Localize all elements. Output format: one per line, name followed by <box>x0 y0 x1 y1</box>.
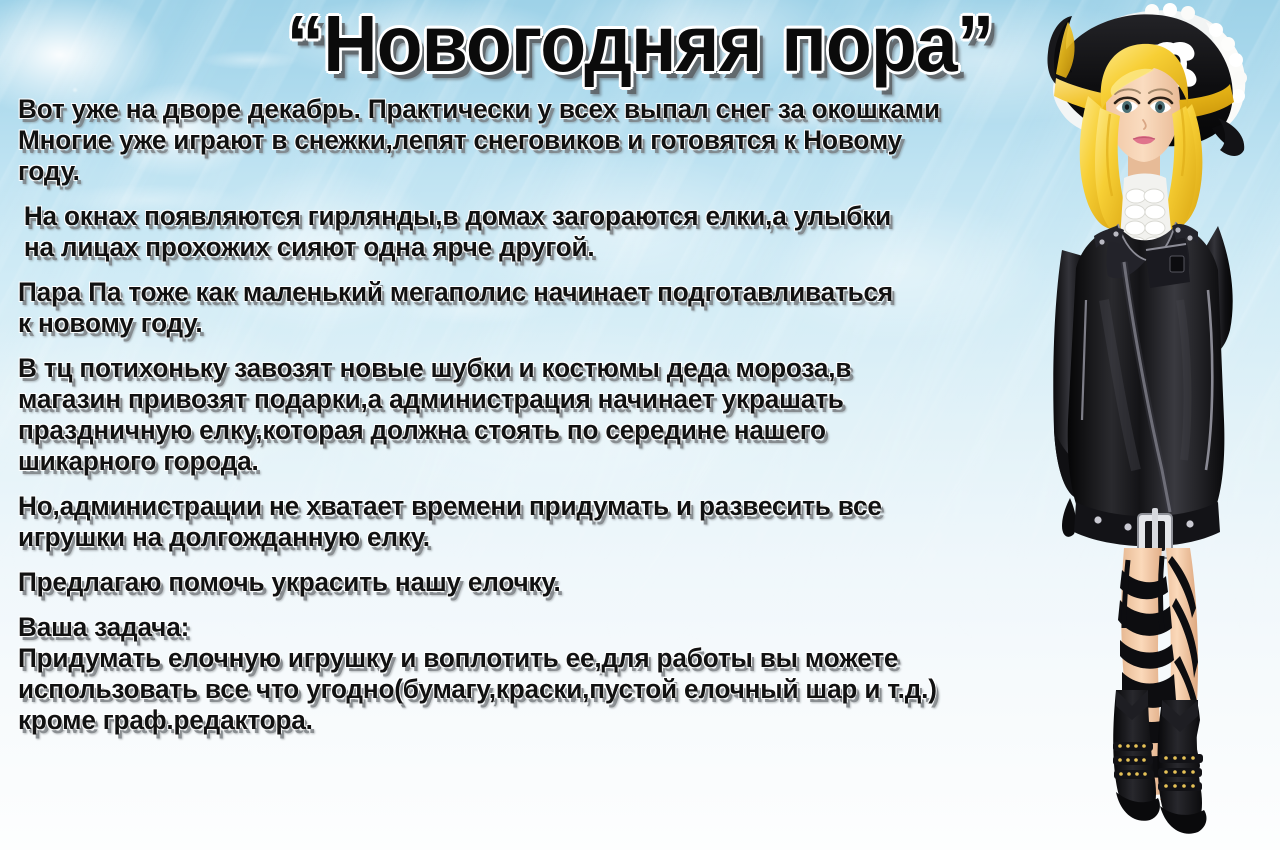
poster-title-container: “Новогодняя пора” <box>0 2 1280 86</box>
paragraph-windows-garlands: На окнах появляются гирлянды,в домах заг… <box>18 201 1012 263</box>
paragraph-invitation: Предлагаю помочь украсить нашу елочку. <box>18 567 1012 598</box>
long-black-gloves <box>1053 226 1232 537</box>
blonde-hair <box>1080 96 1118 229</box>
torn-black-stockings <box>1118 556 1200 782</box>
studded-black-boots <box>1113 690 1206 834</box>
paragraph-mall-preparations: В тц потихоньку завозят новые шубки и ко… <box>18 353 1012 477</box>
paragraph-intro: Вот уже на дворе декабрь. Практически у … <box>18 94 1012 187</box>
paragraph-administration-needs-help: Но,администрации не хватает времени прид… <box>18 491 1012 553</box>
belt-buckle <box>1074 502 1220 558</box>
legs <box>1121 548 1198 802</box>
page-title: “Новогодняя пора” <box>287 2 994 86</box>
poster-canvas: “Новогодняя пора” Вот уже на дворе декаб… <box>0 0 1280 850</box>
paragraph-para-pa-city: Пара Па тоже как маленький мегаполис нач… <box>18 277 1012 339</box>
poster-body-text: Вот уже на дворе декабрь. Практически у … <box>18 94 1043 736</box>
black-leather-jacket-dress <box>1068 222 1225 524</box>
ruffled-white-blouse <box>1120 174 1172 350</box>
pirate-girl-avatar <box>1020 0 1280 850</box>
paragraph-your-task: Ваша задача: Придумать елочную игрушку и… <box>18 612 1012 736</box>
